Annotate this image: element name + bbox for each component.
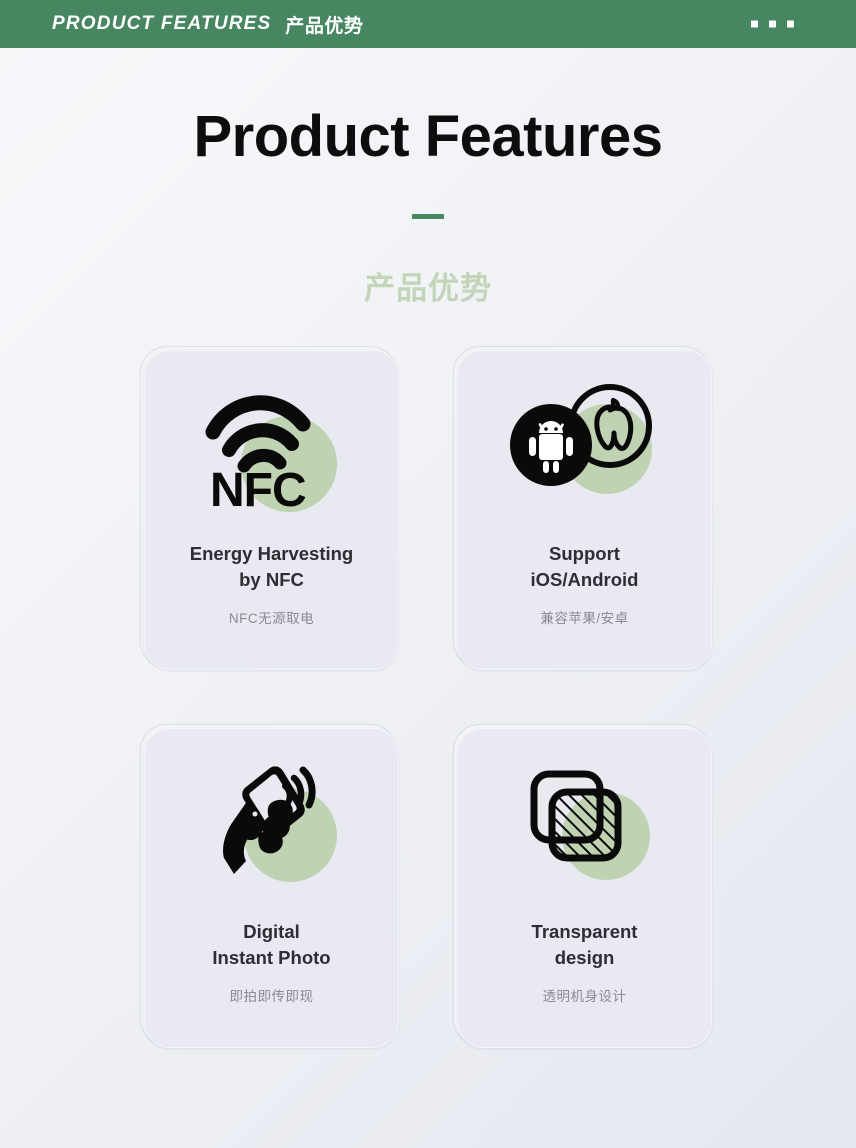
dot [769, 21, 776, 28]
feature-card-transparent-design[interactable]: Transparent design 透明机身设计 [457, 728, 712, 1048]
card-title-line2: by NFC [239, 569, 304, 590]
card-title-line2: design [555, 947, 615, 968]
card-title-line2: iOS/Android [531, 569, 639, 590]
android-robot-icon [510, 404, 592, 486]
card-title: Transparent design [520, 919, 650, 970]
card-title: Energy Harvesting by NFC [178, 541, 365, 592]
card-title-line1: Energy Harvesting [190, 543, 353, 564]
app-header: PRODUCT FEATURES 产品优势 [0, 0, 856, 48]
card-subtitle-cn: 即拍即传即现 [230, 985, 314, 1005]
card-subtitle-cn: 兼容苹果/安卓 [540, 607, 628, 627]
feature-card-digital-instant-photo[interactable]: Digital Instant Photo 即拍即传即现 [144, 728, 399, 1048]
card-icon-area [145, 729, 398, 919]
card-subtitle-cn: 透明机身设计 [543, 985, 627, 1005]
hand-phone-nfc-icon [199, 760, 339, 888]
overlapping-squares-transparency-icon [528, 768, 640, 880]
nfc-wave-icon: NFC [199, 380, 345, 512]
card-title-line1: Support [549, 543, 620, 564]
card-title: Support iOS/Android [519, 541, 651, 592]
card-wrapper: Digital Instant Photo 即拍即传即现 [144, 728, 399, 1048]
card-title: Digital Instant Photo [200, 919, 342, 970]
title-divider [412, 214, 444, 219]
hero-section: Product Features 产品优势 [0, 48, 856, 308]
card-icon-area: NFC [145, 351, 398, 541]
page-subtitle-cn: 产品优势 [0, 263, 856, 308]
card-title-line2: Instant Photo [212, 947, 330, 968]
dot [787, 21, 794, 28]
header-title-cn: 产品优势 [285, 11, 363, 38]
card-icon-area [458, 351, 711, 541]
header-title-en: PRODUCT FEATURES [52, 13, 271, 35]
three-dots-icon[interactable] [751, 21, 794, 28]
card-wrapper: NFC Energy Harvesting by NFC NFC无源取电 [144, 350, 399, 670]
card-wrapper: Transparent design 透明机身设计 [457, 728, 712, 1048]
svg-text:NFC: NFC [210, 464, 306, 517]
feature-card-support-ios-android[interactable]: Support iOS/Android 兼容苹果/安卓 [457, 350, 712, 670]
card-title-line1: Transparent [532, 921, 638, 942]
feature-card-energy-harvesting[interactable]: NFC Energy Harvesting by NFC NFC无源取电 [144, 350, 399, 670]
feature-card-grid: NFC Energy Harvesting by NFC NFC无源取电 [144, 350, 712, 1048]
dot [751, 21, 758, 28]
card-subtitle-cn: NFC无源取电 [229, 607, 314, 627]
card-title-line1: Digital [243, 921, 300, 942]
card-icon-area [458, 729, 711, 919]
page-title: Product Features [0, 108, 856, 166]
card-wrapper: Support iOS/Android 兼容苹果/安卓 [457, 350, 712, 670]
